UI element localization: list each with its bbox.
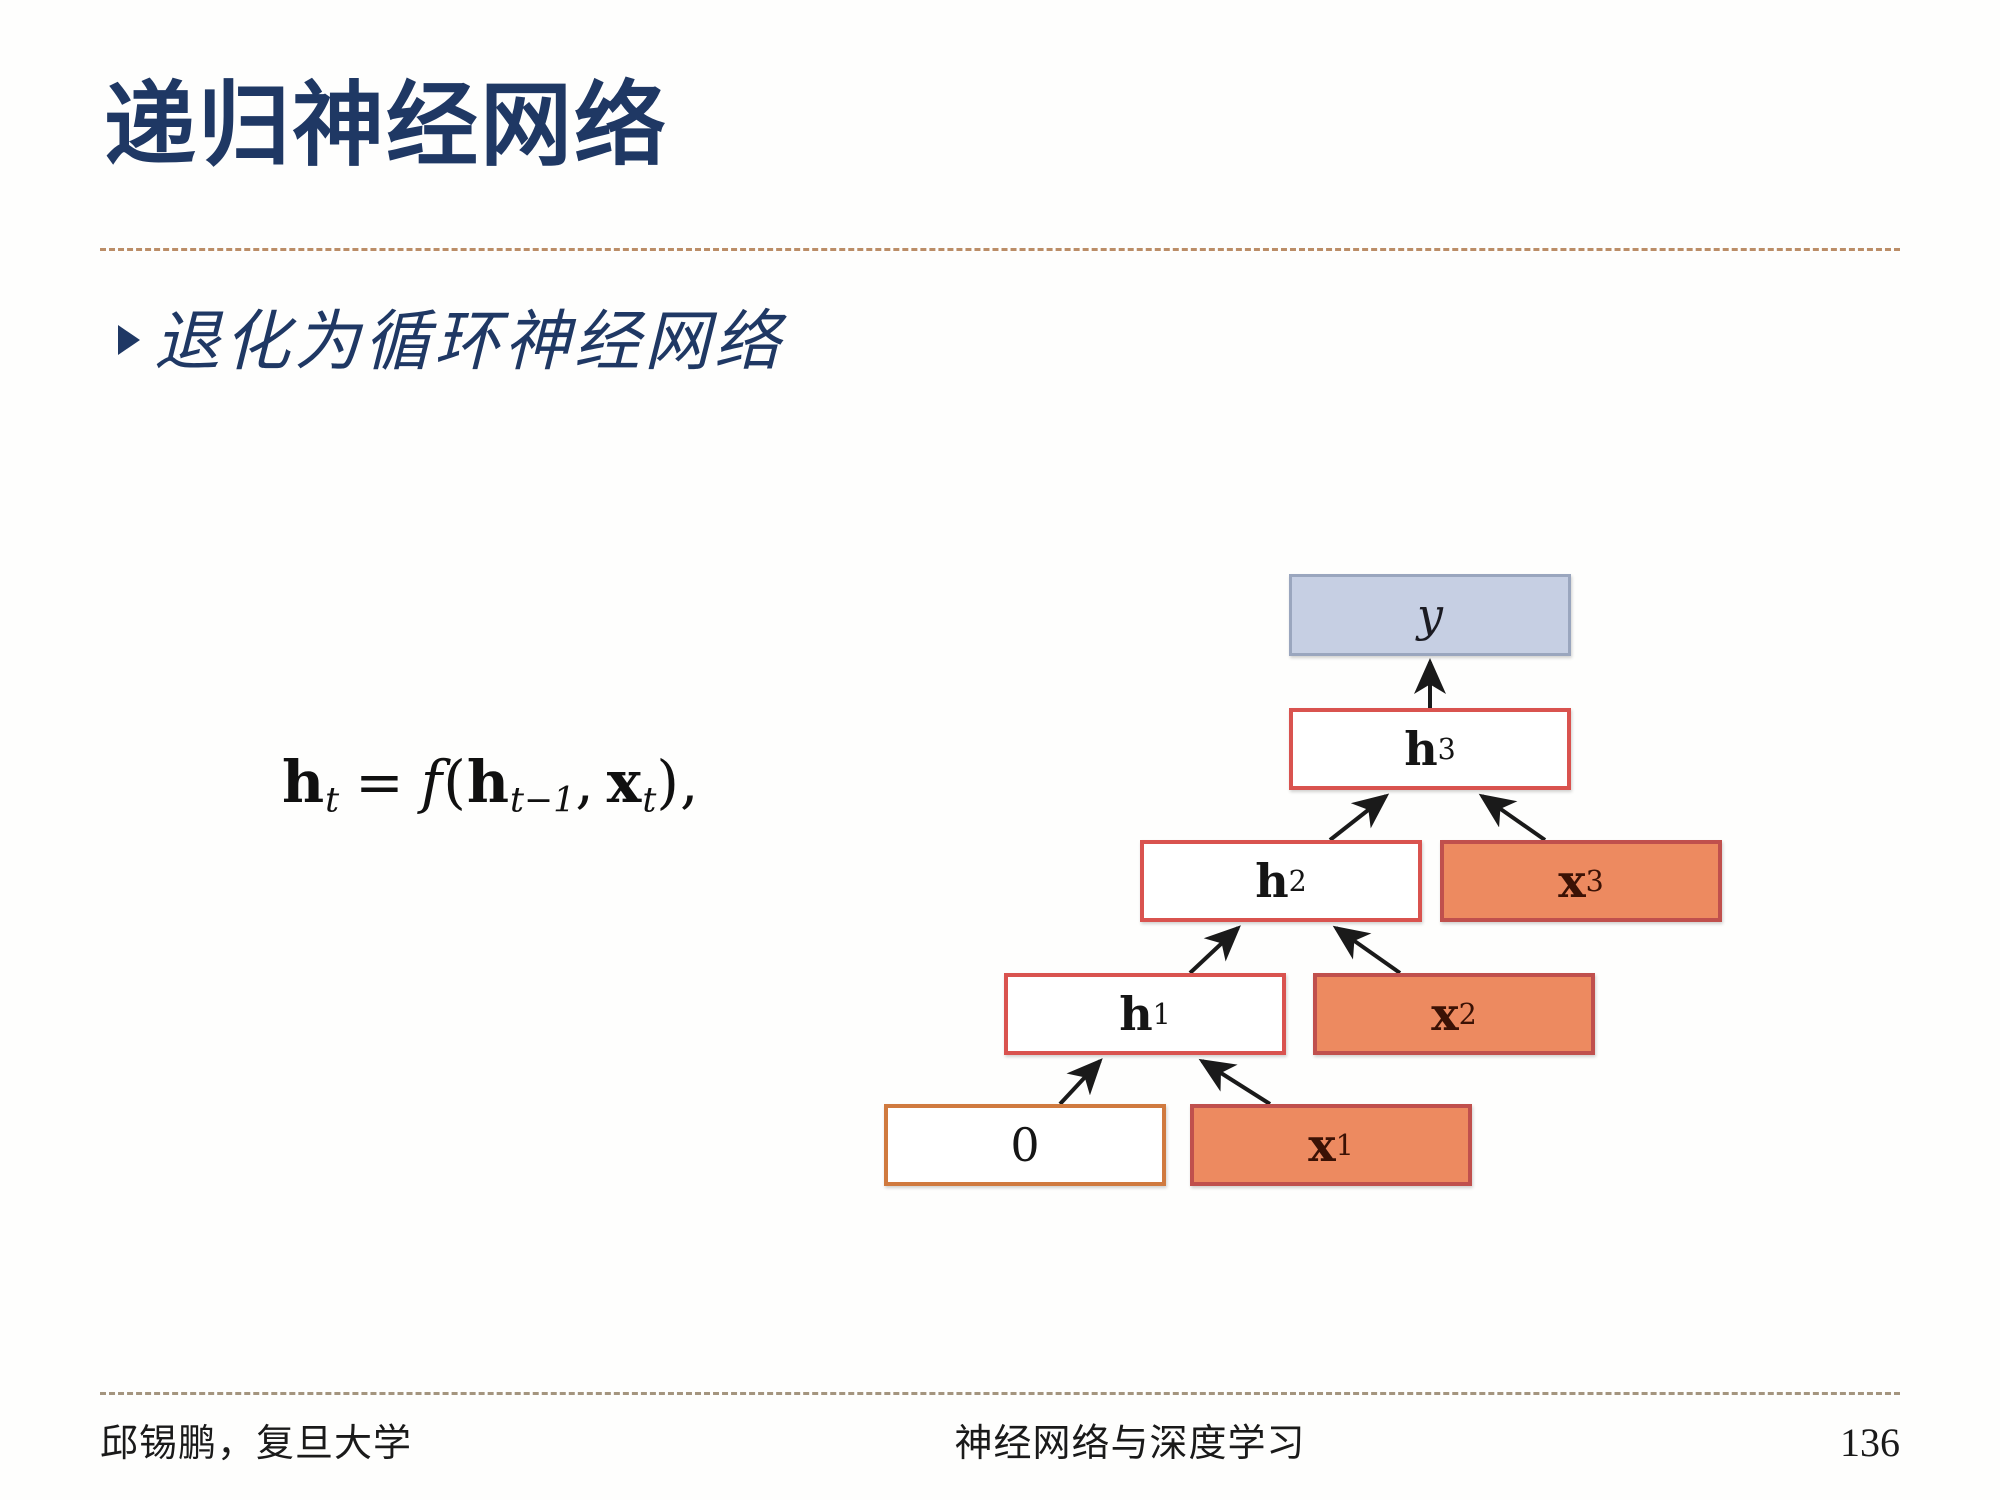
diagram-node-h1[interactable]: h1: [1004, 973, 1286, 1055]
node-label-h3: h: [1404, 722, 1437, 776]
node-label-x2: x: [1431, 987, 1458, 1041]
node-sub-x3: 3: [1586, 865, 1604, 898]
node-label-h2: h: [1255, 854, 1288, 908]
edge-x2-to-h2: [1336, 928, 1400, 973]
edge-x3-to-h3: [1482, 796, 1545, 840]
title-divider: [100, 248, 1900, 251]
bullet-item: 退化为循环神经网络: [118, 288, 784, 384]
footer: 邱锡鹏，复旦大学 神经网络与深度学习 136: [100, 1412, 1900, 1467]
node-sub-h3: 3: [1438, 733, 1456, 766]
formula-arg1-sub: t−1: [510, 781, 575, 821]
formula-arg2-sub: t: [642, 781, 656, 821]
node-label-x3: x: [1558, 854, 1585, 908]
edge-h1-to-h2: [1190, 928, 1238, 973]
formula-arg2-var: x: [607, 748, 643, 816]
slide: 递归神经网络 退化为循环神经网络 ht=f(ht−1,xt), y h3 h2 …: [0, 0, 2000, 1500]
formula-trailing-comma: ,: [680, 748, 699, 816]
formula-open-paren: (: [443, 748, 467, 816]
bullet-item-label: 退化为循环神经网络: [154, 288, 784, 384]
node-label-zero: 0: [1010, 1118, 1039, 1172]
node-label-y: y: [1417, 588, 1443, 642]
footer-author: 邱锡鹏，复旦大学: [100, 1412, 660, 1467]
diagram-node-x3[interactable]: x3: [1440, 840, 1722, 922]
formula-func: f: [421, 748, 443, 816]
page-number: 136: [1600, 1419, 1900, 1466]
triangle-right-icon: [118, 325, 140, 355]
edge-zero-to-h1: [1060, 1061, 1100, 1104]
footer-divider: [100, 1392, 1900, 1395]
formula-comma: ,: [575, 748, 594, 816]
node-sub-x2: 2: [1459, 998, 1477, 1031]
diagram-node-h2[interactable]: h2: [1140, 840, 1422, 922]
edge-h2-to-h3: [1330, 796, 1386, 840]
edge-x1-to-h1: [1202, 1061, 1270, 1104]
formula-lhs-sub: t: [325, 781, 339, 821]
diagram-node-y[interactable]: y: [1289, 574, 1571, 656]
footer-book-title: 神经网络与深度学习: [660, 1412, 1600, 1467]
diagram-node-x1[interactable]: x1: [1190, 1104, 1472, 1186]
formula-lhs-var: h: [282, 748, 325, 816]
page-title: 递归神经网络: [104, 78, 668, 175]
node-sub-h2: 2: [1289, 865, 1307, 898]
recurrence-formula: ht=f(ht−1,xt),: [282, 748, 699, 821]
formula-equals: =: [355, 748, 405, 816]
formula-close-paren: ): [656, 748, 680, 816]
diagram-node-x2[interactable]: x2: [1313, 973, 1595, 1055]
diagram-node-zero[interactable]: 0: [884, 1104, 1166, 1186]
node-label-x1: x: [1308, 1118, 1335, 1172]
formula-arg1-var: h: [467, 748, 510, 816]
node-label-h1: h: [1119, 987, 1152, 1041]
node-sub-h1: 1: [1153, 998, 1171, 1031]
diagram-node-h3[interactable]: h3: [1289, 708, 1571, 790]
node-sub-x1: 1: [1336, 1129, 1354, 1162]
